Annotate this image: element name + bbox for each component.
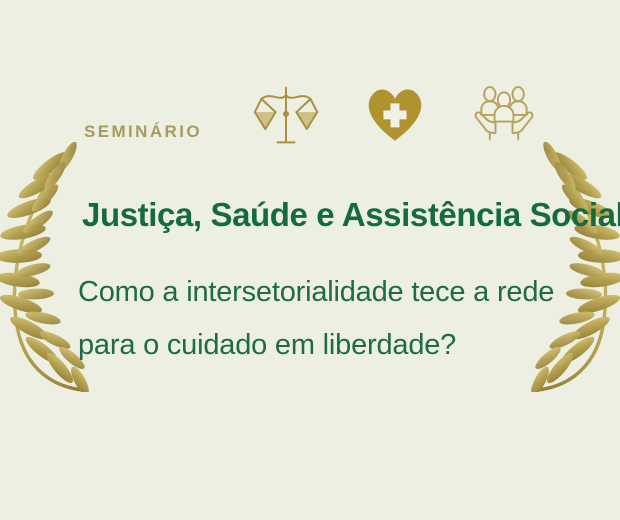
eyebrow-label: SEMINÁRIO	[84, 123, 202, 140]
page-title: Justiça, Saúde e Assistência Social	[82, 198, 620, 231]
subtitle: Como a intersetorialidade tece a rede pa…	[78, 266, 554, 372]
subtitle-line-2: para o cuidado em liberdade?	[78, 319, 554, 372]
subtitle-line-1: Como a intersetorialidade tece a rede	[78, 266, 554, 319]
hands-holding-people-icon	[468, 78, 540, 150]
icon-row	[250, 78, 540, 150]
heart-medical-cross-icon	[359, 78, 431, 150]
scales-of-justice-icon	[250, 78, 322, 150]
seminar-poster: SEMINÁRIO Justiça, Saúde e Assistência S…	[0, 0, 620, 520]
